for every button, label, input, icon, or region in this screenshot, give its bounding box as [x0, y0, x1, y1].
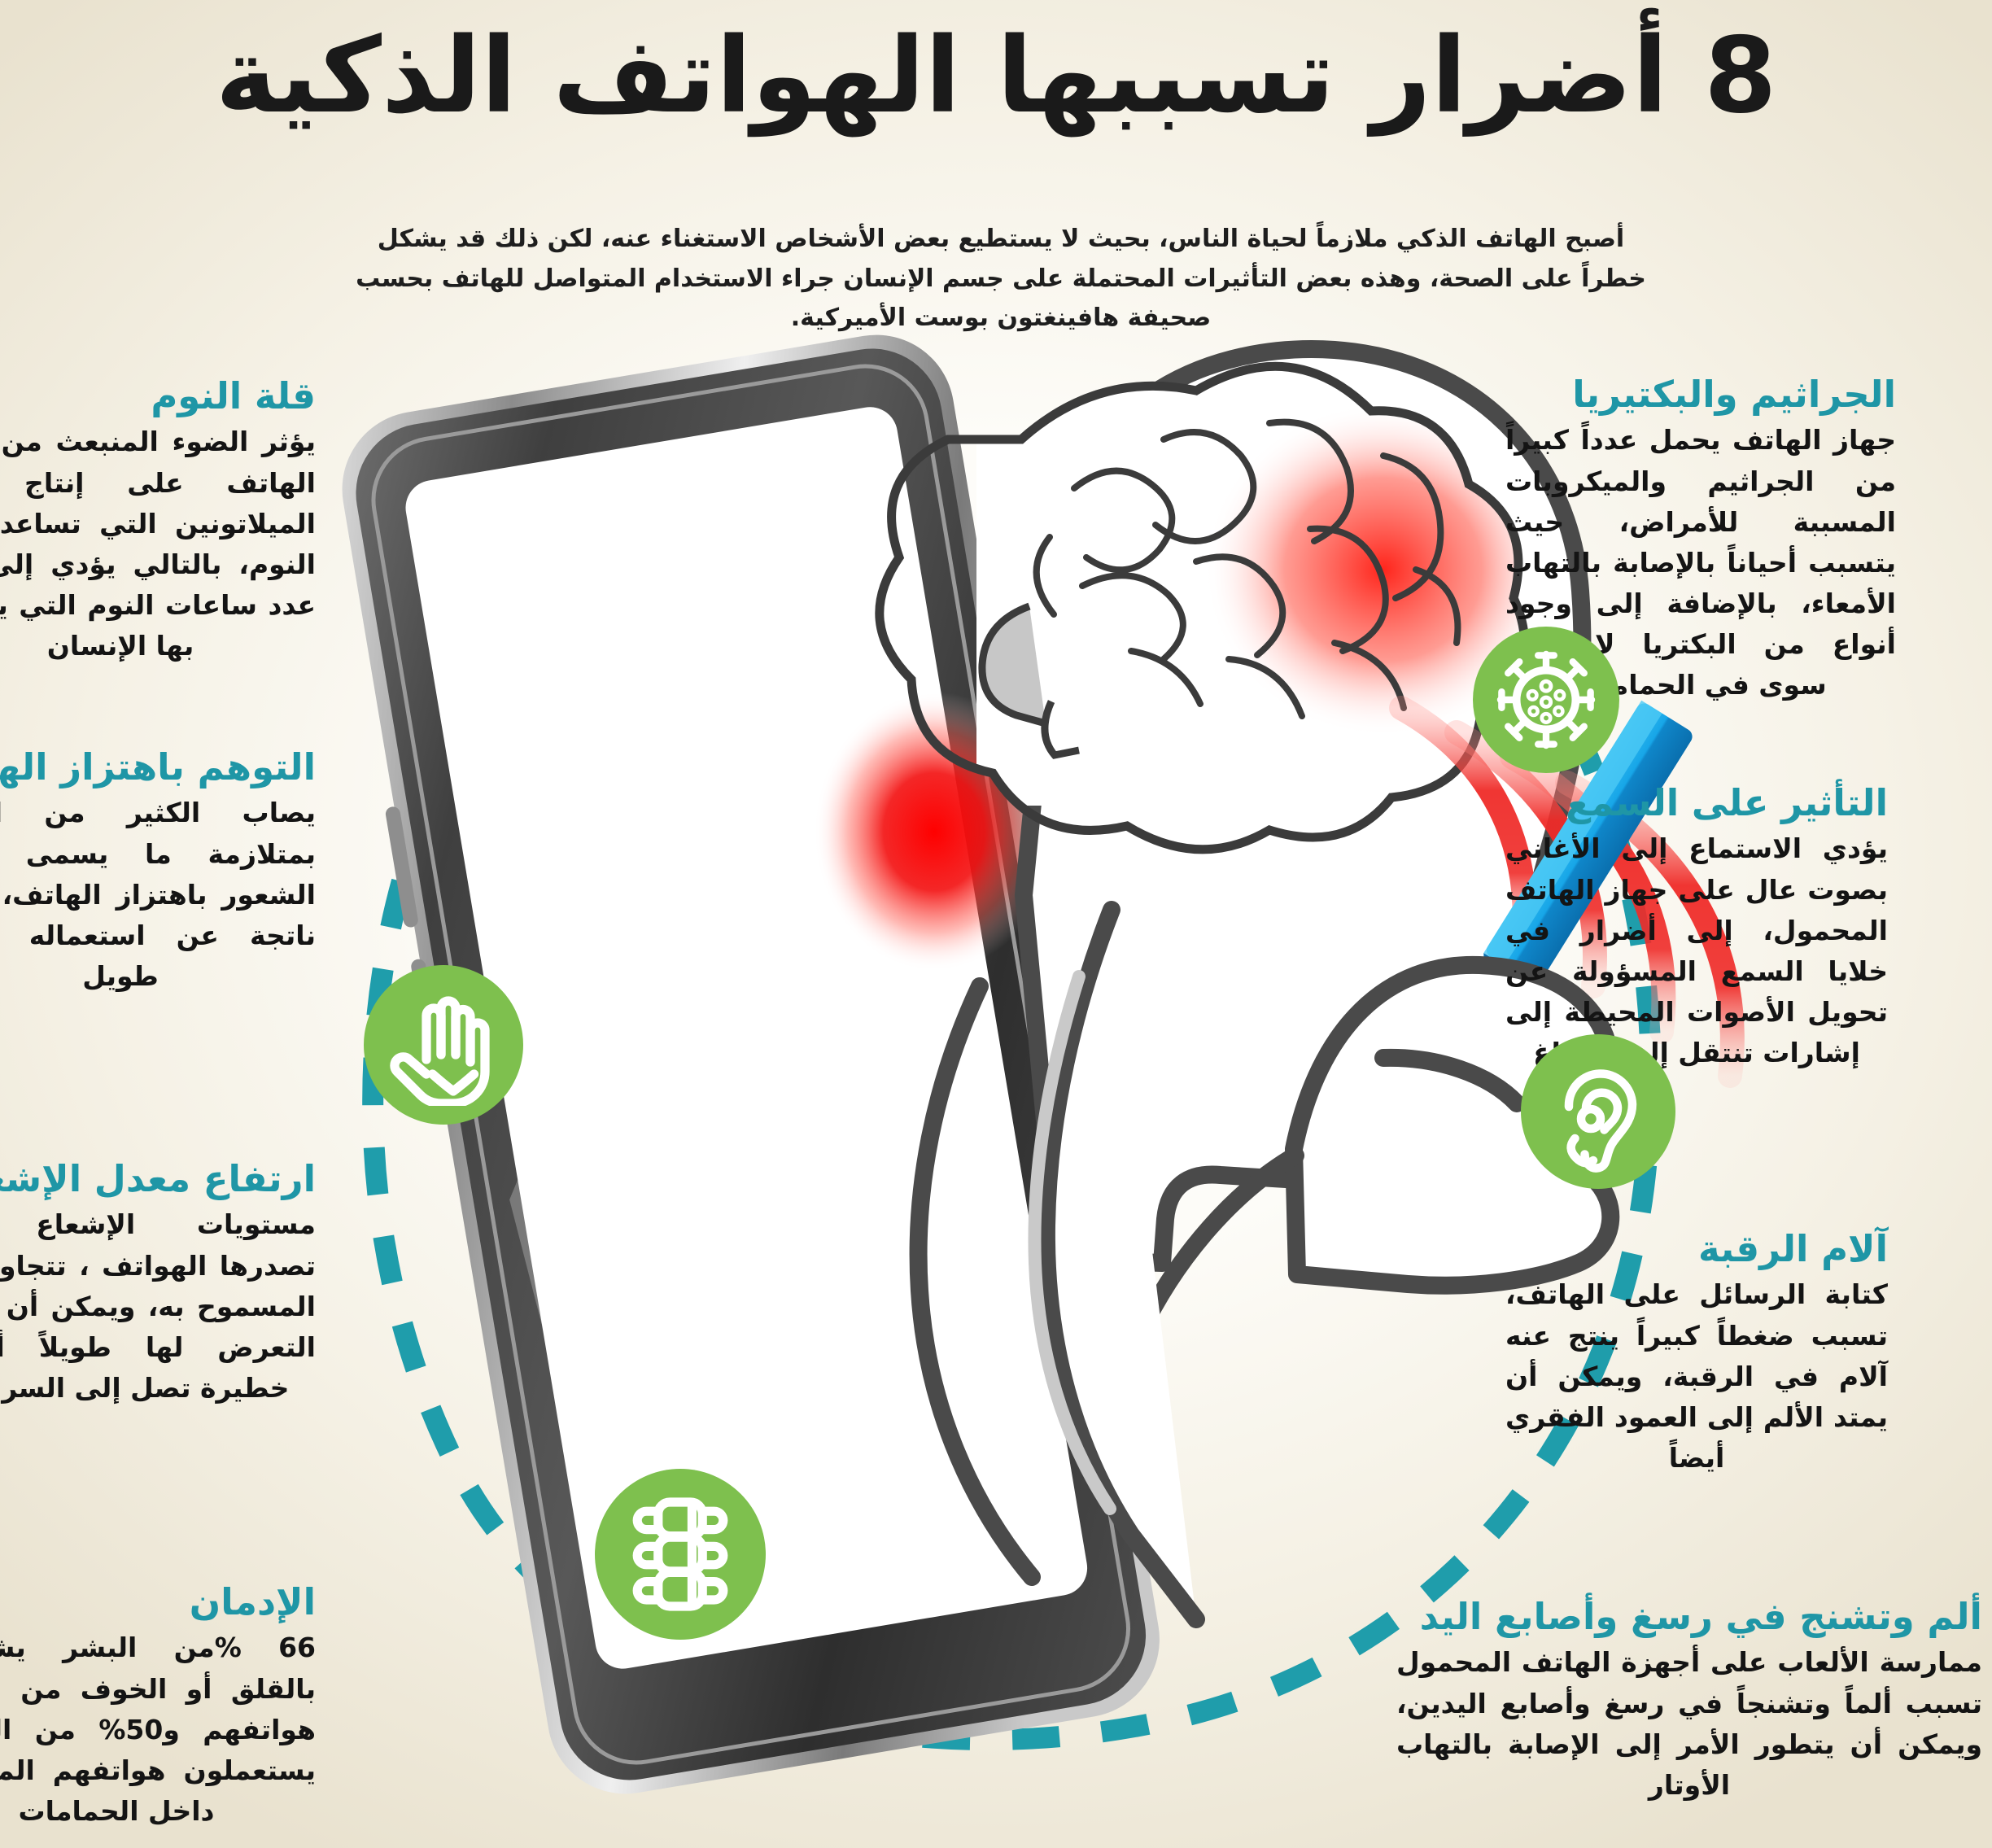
block-radiation-body: مستويات الإشعاع التي تصدرها الهواتف ، تت…: [0, 1204, 316, 1409]
block-neck-pain-heading: آلام الرقبة: [1505, 1229, 1888, 1269]
block-germs-heading: الجراثيم والبكتيريا: [1505, 374, 1896, 415]
infographic-canvas: 8 أضرار تسببها الهواتف الذكية أصبح الهات…: [0, 0, 1992, 1848]
block-addiction-heading: الإدمان: [0, 1582, 316, 1623]
block-neck-pain-body: كتابة الرسائل على الهاتف، تسبب ضغطاً كبي…: [1505, 1274, 1888, 1479]
intro-paragraph: أصبح الهاتف الذكي ملازماً لحياة الناس، ب…: [350, 220, 1652, 339]
hand-icon-badge: [364, 965, 523, 1125]
hand-icon: [382, 984, 505, 1106]
block-sleep-heading: قلة النوم: [0, 376, 316, 417]
ear-icon: [1537, 1051, 1659, 1173]
spine-icon: [615, 1489, 745, 1619]
block-wrist-pain-heading: ألم وتشنج في رسغ وأصابع اليد: [1396, 1597, 1982, 1637]
block-hearing-heading: التأثير على السمع: [1505, 783, 1888, 824]
ear-icon-badge: [1521, 1034, 1675, 1189]
block-sleep-body: يؤثر الضوء المنبعث من جهاز الهاتف على إن…: [0, 422, 316, 666]
block-phantom-vibration: التوهم باهتزاز الهاتف يصاب الكثير من الن…: [0, 747, 316, 997]
block-phantom-vibration-body: يصاب الكثير من الناس بمتلازمة ما يسمى تخ…: [0, 793, 316, 997]
virus-icon: [1489, 643, 1603, 757]
block-addiction-body: 66 %من البشر يشعرون بالقلق أو الخوف من ف…: [0, 1627, 316, 1832]
block-neck-pain: آلام الرقبة كتابة الرسائل على الهاتف، تس…: [1505, 1229, 1888, 1479]
block-phantom-vibration-heading: التوهم باهتزاز الهاتف: [0, 747, 316, 788]
virus-icon-badge: [1473, 627, 1619, 773]
block-addiction: الإدمان 66 %من البشر يشعرون بالقلق أو ال…: [0, 1582, 316, 1832]
block-sleep: قلة النوم يؤثر الضوء المنبعث من جهاز اله…: [0, 376, 316, 666]
block-hearing-body: يؤدي الاستماع إلى الأغاني بصوت عال على ج…: [1505, 828, 1888, 1073]
spine-icon-badge: [595, 1469, 766, 1640]
block-wrist-pain-body: ممارسة الألعاب على أجهزة الهاتف المحمول …: [1396, 1642, 1982, 1806]
block-radiation-heading: ارتفاع معدل الإشعاع: [0, 1159, 316, 1199]
block-radiation: ارتفاع معدل الإشعاع مستويات الإشعاع التي…: [0, 1159, 316, 1409]
block-hearing: التأثير على السمع يؤدي الاستماع إلى الأغ…: [1505, 783, 1888, 1073]
page-title: 8 أضرار تسببها الهواتف الذكية: [0, 15, 1992, 138]
block-wrist-pain: ألم وتشنج في رسغ وأصابع اليد ممارسة الأل…: [1396, 1597, 1982, 1806]
